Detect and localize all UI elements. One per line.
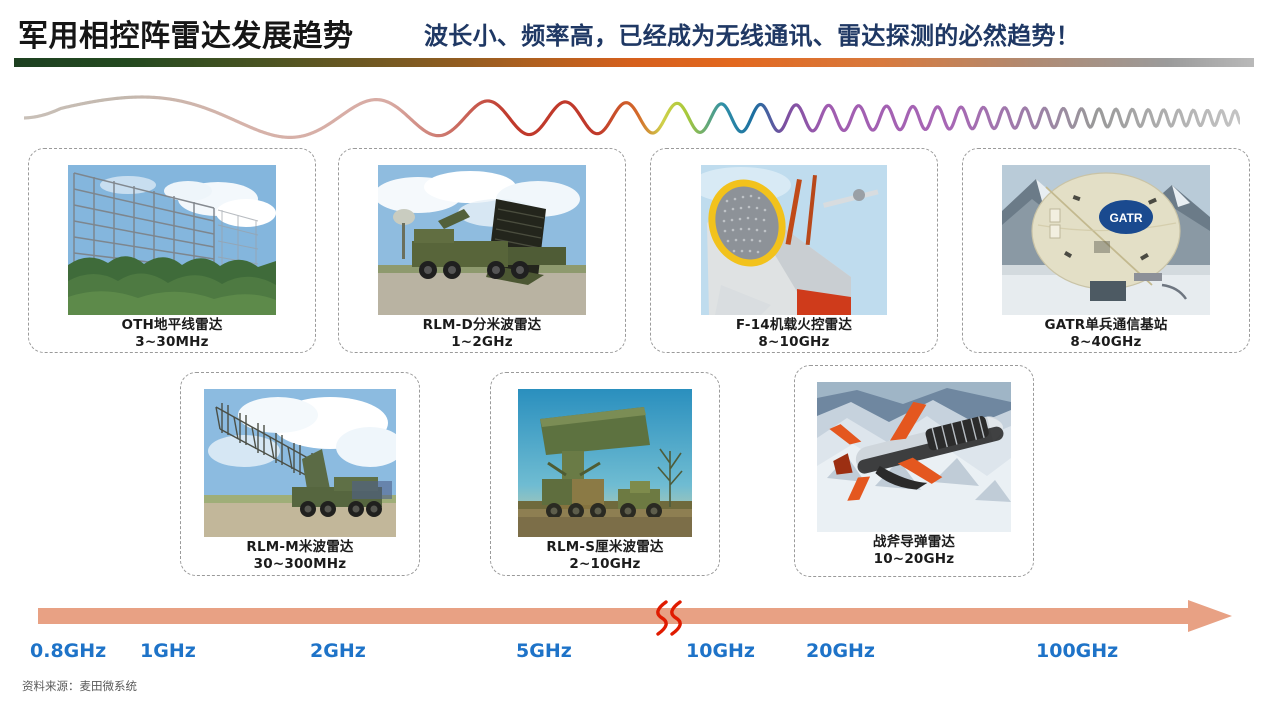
- axis-tick: 5GHz: [516, 640, 572, 662]
- axis-tick: 2GHz: [310, 640, 366, 662]
- card-title: GATR单兵通信基站: [1044, 317, 1167, 333]
- axis-bar: [38, 608, 1200, 624]
- rlm-s-radar-photo: [518, 389, 692, 537]
- card-title: F-14机载火控雷达: [736, 317, 852, 333]
- card-caption: 战斧导弹雷达 10~20GHz: [795, 534, 1033, 568]
- card-frequency: 2~10GHz: [491, 556, 719, 573]
- radar-card[interactable]: F-14机载火控雷达 8~10GHz: [650, 148, 938, 353]
- axis-tick: 20GHz: [806, 640, 875, 662]
- card-photo: [68, 165, 276, 315]
- axis-tick-labels: 0.8GHz 1GHz 2GHz 5GHz 10GHz 20GHz 100GHz: [0, 640, 1268, 670]
- slide-root: 军用相控阵雷达发展趋势 波长小、频率高，已经成为无线通讯、雷达探测的必然趋势！: [0, 0, 1268, 702]
- card-photo: [378, 165, 586, 315]
- card-title: 战斧导弹雷达: [873, 534, 955, 550]
- axis-tick: 1GHz: [140, 640, 196, 662]
- axis-arrowhead: [1188, 600, 1232, 632]
- card-caption: RLM-D分米波雷达 1~2GHz: [339, 317, 625, 351]
- card-frequency: 1~2GHz: [339, 334, 625, 351]
- radar-card[interactable]: OTH地平线雷达 3~30MHz: [28, 148, 316, 353]
- card-photo: [701, 165, 887, 315]
- radar-card[interactable]: RLM-D分米波雷达 1~2GHz: [338, 148, 626, 353]
- source-note: 资料来源：麦田微系统: [22, 678, 137, 694]
- frequency-axis: [0, 596, 1268, 636]
- card-title: RLM-D分米波雷达: [423, 317, 542, 333]
- page-title: 军用相控阵雷达发展趋势: [18, 11, 354, 55]
- card-title: RLM-S厘米波雷达: [546, 539, 663, 555]
- card-title: OTH地平线雷达: [121, 317, 222, 333]
- axis-tick: 10GHz: [686, 640, 755, 662]
- rlm-d-radar-photo: [378, 165, 586, 315]
- spectrum-wave-graphic: [24, 84, 1240, 146]
- f14-radar-photo: [701, 165, 887, 315]
- gatr-dish-photo: GATR: [1002, 165, 1210, 315]
- radar-card[interactable]: GATR GATR单兵通信基站 8~40GHz: [962, 148, 1250, 353]
- card-frequency: 8~40GHz: [963, 334, 1249, 351]
- card-title: RLM-M米波雷达: [246, 539, 353, 555]
- card-frequency: 3~30MHz: [29, 334, 315, 351]
- radar-card[interactable]: RLM-S厘米波雷达 2~10GHz: [490, 372, 720, 576]
- card-caption: RLM-M米波雷达 30~300MHz: [181, 539, 419, 573]
- radar-card[interactable]: 战斧导弹雷达 10~20GHz: [794, 365, 1034, 577]
- tomahawk-missile-photo: [817, 382, 1011, 532]
- card-photo: [204, 389, 396, 537]
- page-subtitle: 波长小、频率高，已经成为无线通讯、雷达探测的必然趋势！: [424, 16, 1080, 51]
- card-photo: [817, 382, 1011, 532]
- card-caption: F-14机载火控雷达 8~10GHz: [651, 317, 937, 351]
- header-gradient-rule: [14, 58, 1254, 67]
- card-caption: RLM-S厘米波雷达 2~10GHz: [491, 539, 719, 573]
- rlm-m-radar-photo: [204, 389, 396, 537]
- oth-radar-photo: [68, 165, 276, 315]
- slide-header: 军用相控阵雷达发展趋势 波长小、频率高，已经成为无线通讯、雷达探测的必然趋势！: [0, 0, 1268, 68]
- card-caption: OTH地平线雷达 3~30MHz: [29, 317, 315, 351]
- card-frequency: 30~300MHz: [181, 556, 419, 573]
- card-frequency: 8~10GHz: [651, 334, 937, 351]
- card-frequency: 10~20GHz: [795, 551, 1033, 568]
- axis-tick: 0.8GHz: [30, 640, 106, 662]
- card-photo: GATR: [1002, 165, 1210, 315]
- svg-text:GATR: GATR: [1109, 211, 1142, 225]
- axis-tick: 100GHz: [1036, 640, 1118, 662]
- card-photo: [518, 389, 692, 537]
- radar-card[interactable]: RLM-M米波雷达 30~300MHz: [180, 372, 420, 576]
- card-caption: GATR单兵通信基站 8~40GHz: [963, 317, 1249, 351]
